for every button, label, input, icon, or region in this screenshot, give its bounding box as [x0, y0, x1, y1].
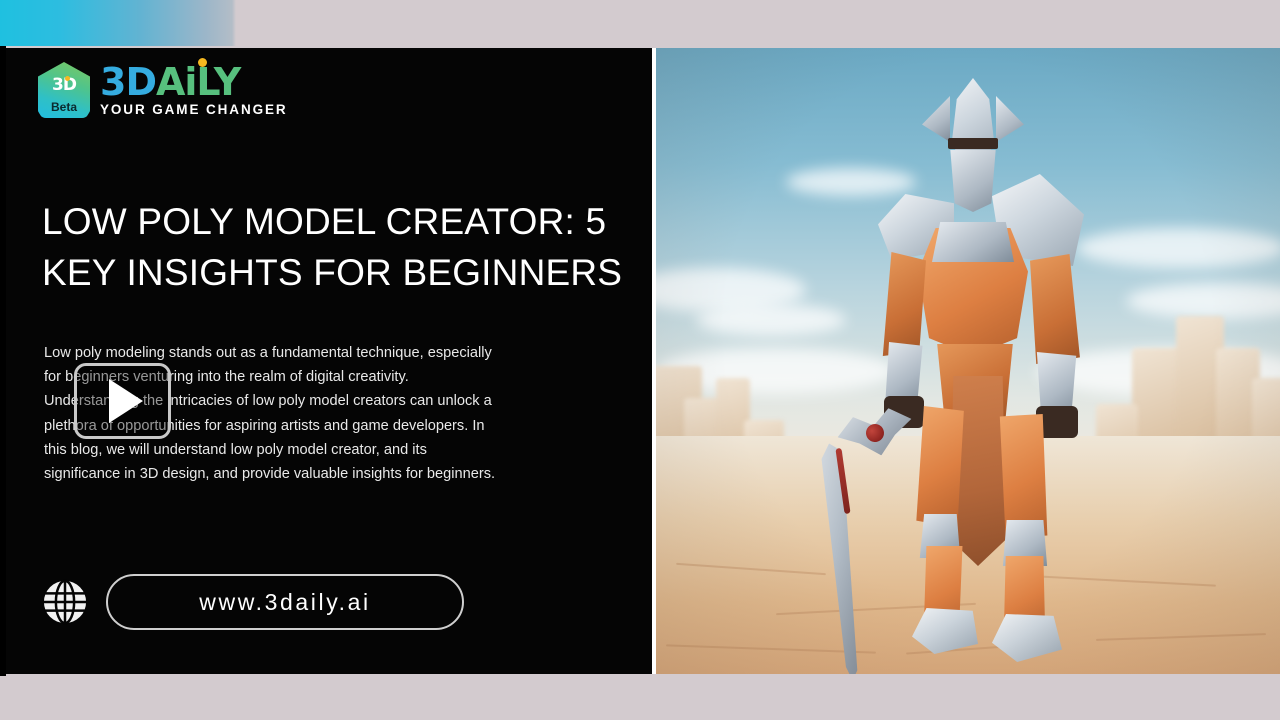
- brand-logo[interactable]: 3D Beta 3DAiLY YOUR GAME CHANGER: [38, 62, 288, 118]
- logo-wordmark: 3DAiLY YOUR GAME CHANGER: [100, 63, 288, 117]
- page-title: LOW POLY MODEL CREATOR: 5 KEY INSIGHTS F…: [42, 196, 656, 298]
- hero-vignette: [656, 48, 1280, 674]
- hero-image: [656, 48, 1280, 674]
- slide-card: 3D Beta 3DAiLY YOUR GAME CHANGER LOW POL…: [6, 48, 1280, 674]
- badge-dot-icon: [65, 76, 70, 81]
- badge-glyph: 3D: [44, 72, 84, 98]
- body-line: significance in 3D design, and provide v…: [44, 462, 572, 486]
- logo-tagline: YOUR GAME CHANGER: [100, 102, 288, 117]
- background-strip-top: [0, 0, 1280, 46]
- content-panel: 3D Beta 3DAiLY YOUR GAME CHANGER LOW POL…: [6, 48, 652, 674]
- body-line: this blog, we will understand low poly m…: [44, 438, 572, 462]
- website-url-button[interactable]: www.3daily.ai: [106, 574, 464, 630]
- logo-3d-text: 3D: [100, 60, 156, 104]
- play-button[interactable]: [74, 363, 171, 439]
- body-line: Low poly modeling stands out as a fundam…: [44, 341, 572, 365]
- beta-label: Beta: [51, 100, 77, 114]
- play-triangle-icon: [109, 379, 143, 423]
- logo-i-dot-icon: [198, 58, 207, 67]
- background-strip-bottom: [0, 676, 1280, 720]
- website-url-label: www.3daily.ai: [199, 589, 370, 616]
- globe-icon: [42, 579, 88, 625]
- logo-aily-text: AiLY: [156, 60, 240, 104]
- logo-aily-label: AiLY: [156, 60, 240, 104]
- logo-badge-icon: 3D Beta: [38, 62, 90, 118]
- footer: www.3daily.ai: [42, 574, 464, 630]
- logo-title: 3DAiLY: [100, 63, 288, 101]
